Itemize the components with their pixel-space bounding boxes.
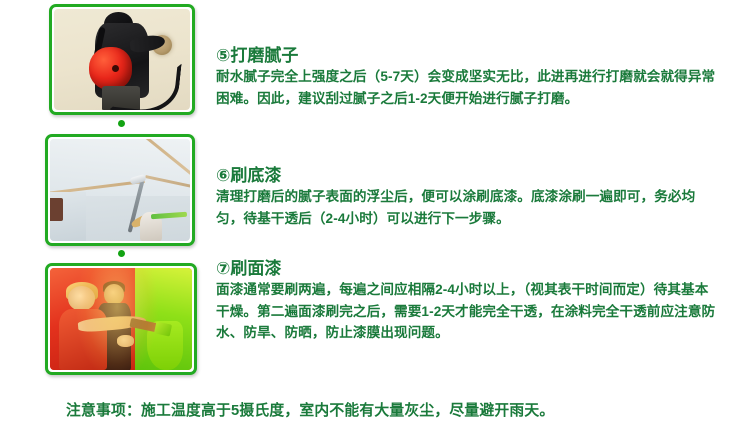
step-7-body: 面漆通常要刷两遍，每遍之间应相隔2-4小时以上，（视其表干时间而定）待其基本干燥… <box>216 279 716 344</box>
footer-caution-note: 注意事项：施工温度高于5摄氏度，室内不能有大量灰尘，尽量避开雨天。 <box>66 400 706 422</box>
photo-frame-primer <box>45 134 195 246</box>
step-6-title: ⑥刷底漆 <box>216 166 718 186</box>
step-5-body: 耐水腻子完全上强度之后（5-7天）会变成坚实无比，此进再进行打磨就会就得异常困难… <box>216 66 716 109</box>
step-6-text-block: ⑥刷底漆 清理打磨后的腻子表面的浮尘后，便可以涂刷底漆。底漆涂刷一遍即可，务必均… <box>216 166 718 229</box>
vacuum-hose-shape <box>108 56 181 110</box>
photo-frame-sanding <box>49 4 195 115</box>
ceiling-primer-roller-photo <box>50 139 190 241</box>
worker-sanding-putty-photo <box>54 9 190 110</box>
step-7-text-block: ⑦刷面漆 面漆通常要刷两遍，每遍之间应相隔2-4小时以上，（视其表干时间而定）待… <box>216 259 716 344</box>
step-7-title: ⑦刷面漆 <box>216 259 716 279</box>
step-5-title: ⑤打磨腻子 <box>216 46 716 66</box>
green-masking-tape-shape <box>151 212 188 220</box>
topcoat-painting-photo <box>50 268 192 370</box>
step-6-body: 清理打磨后的腻子表面的浮尘后，便可以涂刷底漆。底漆涂刷一遍即可，务必均匀，待基干… <box>216 186 718 229</box>
info-graphic-page: ⑤打磨腻子 耐水腻子完全上强度之后（5-7天）会变成坚实无比，此进再进行打磨就会… <box>0 0 739 437</box>
photo-frame-topcoat <box>45 263 197 375</box>
doorway-shape <box>50 198 63 220</box>
connector-dot-icon <box>118 120 125 127</box>
connector-dot-icon <box>118 250 125 257</box>
warm-glow-overlay <box>76 268 158 370</box>
step-5-text-block: ⑤打磨腻子 耐水腻子完全上强度之后（5-7天）会变成坚实无比，此进再进行打磨就会… <box>216 46 716 109</box>
ceiling-surface-shape <box>50 139 190 196</box>
